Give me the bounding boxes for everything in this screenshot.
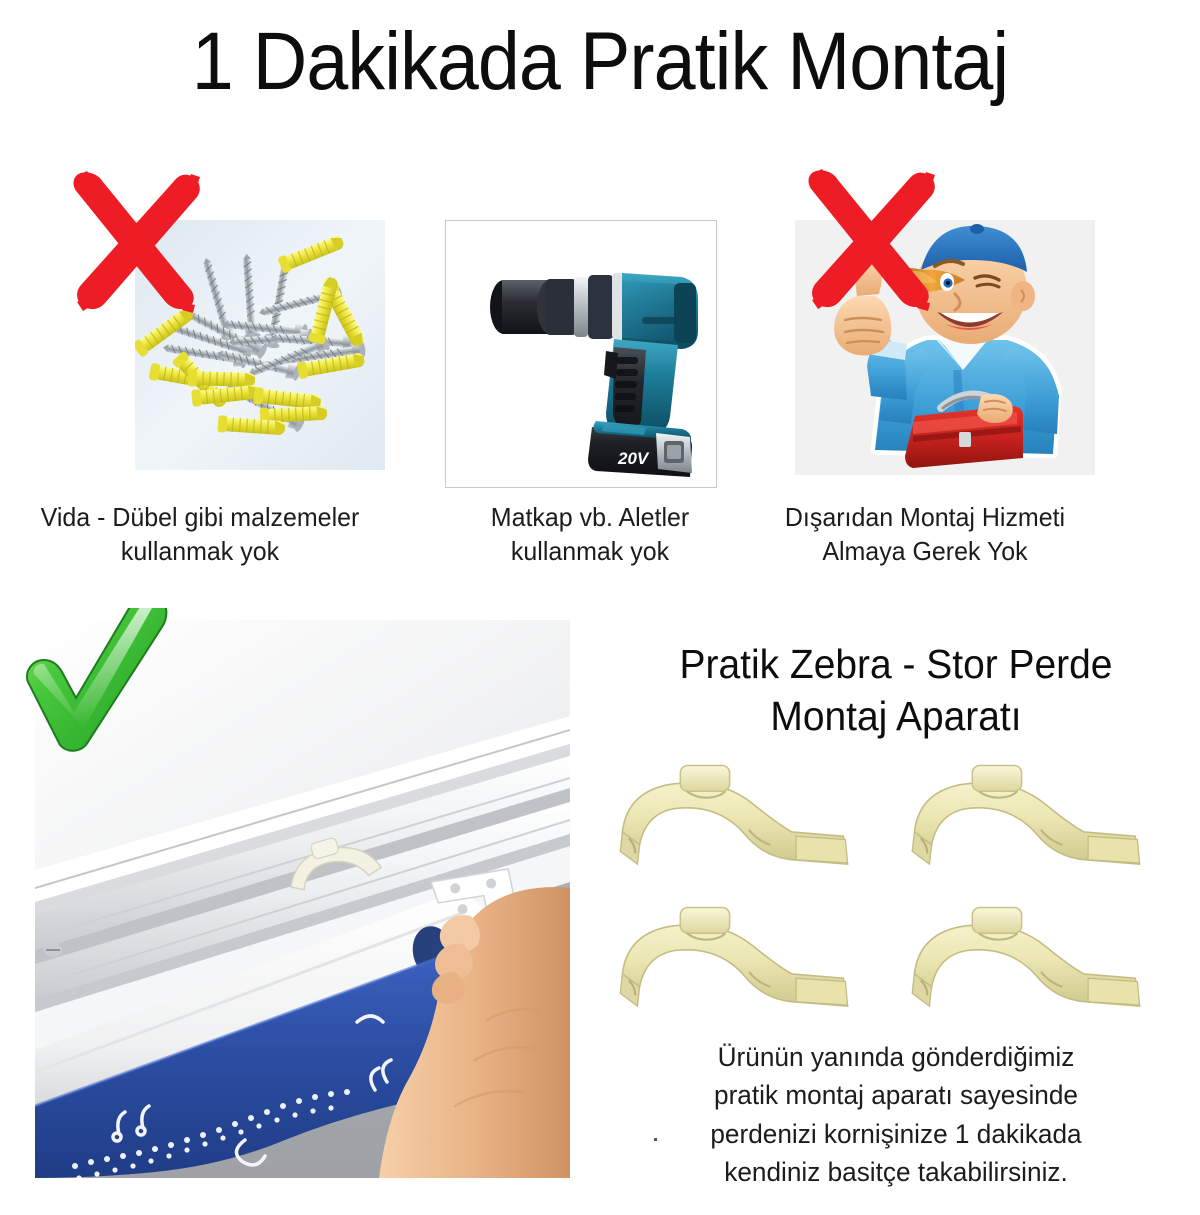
handyman-illustration (795, 220, 1095, 475)
product-description: Ürünün yanında gönderdiğimiz pratik mont… (601, 1038, 1191, 1191)
installation-illustration (35, 620, 570, 1178)
clip-illustration (616, 763, 884, 897)
product-title-line-2: Montaj Aparatı (607, 690, 1185, 742)
card-caption-drill: Matkap vb. Aletler kullanmak yok (427, 500, 753, 569)
page-title: 1 Dakikada Pratik Montaj (48, 18, 1152, 107)
no-card-handyman: Dışarıdan Montaj Hizmeti Almaya Gerek Yo… (755, 155, 1095, 585)
no-card-drill: 20V Matkap vb. Aletler kullanmak yok (420, 155, 760, 585)
card-caption-screws: Vida - Dübel gibi malzemeler kullanmak y… (37, 500, 363, 569)
handyman-graphic (795, 220, 1095, 475)
caption-line-2: kullanmak yok (37, 534, 363, 568)
caption-line-2: Almaya Gerek Yok (762, 534, 1088, 568)
card-caption-handyman: Dışarıdan Montaj Hizmeti Almaya Gerek Yo… (762, 500, 1088, 569)
cordless-drill-photo: 20V (445, 220, 717, 488)
clip-illustration (908, 905, 1176, 1039)
no-card-screws: Vida - Dübel gibi malzemeler kullanmak y… (30, 155, 370, 585)
montaj-aparati-klips (616, 905, 884, 1039)
description-line-4: kendiniz basitçe takabilirsiniz. (601, 1153, 1191, 1191)
description-line-3: perdenizi kornişinize 1 dakikada (601, 1115, 1191, 1153)
description-line-1: Ürünün yanında gönderdiğimiz (601, 1038, 1191, 1076)
product-title: Pratik Zebra - Stor Perde Montaj Aparatı (607, 638, 1185, 743)
screws-illustration (135, 220, 385, 470)
mounting-clips-grid (616, 763, 1176, 1023)
screws-and-dowels-photo (135, 220, 385, 470)
montaj-aparati-klips (908, 905, 1176, 1039)
montaj-aparati-klips (616, 763, 884, 897)
clip-illustration (908, 763, 1176, 897)
clip-illustration (616, 905, 884, 1039)
battery-voltage-label: 20V (617, 449, 650, 468)
prohibited-items-row: Vida - Dübel gibi malzemeler kullanmak y… (0, 155, 1200, 585)
caption-line-1: Dışarıdan Montaj Hizmeti (762, 500, 1088, 534)
caption-line-2: kullanmak yok (427, 534, 753, 568)
caption-line-1: Vida - Dübel gibi malzemeler (37, 500, 363, 534)
caption-line-1: Matkap vb. Aletler (427, 500, 753, 534)
stray-punctuation-dot (654, 1138, 657, 1141)
montaj-aparati-klips (908, 763, 1176, 897)
product-info-panel: Pratik Zebra - Stor Perde Montaj Aparatı (592, 630, 1200, 1190)
drill-illustration: 20V (446, 221, 716, 487)
product-title-line-1: Pratik Zebra - Stor Perde (607, 638, 1185, 690)
blind-installation-photo (35, 620, 570, 1178)
description-line-2: pratik montaj aparatı sayesinde (601, 1076, 1191, 1114)
